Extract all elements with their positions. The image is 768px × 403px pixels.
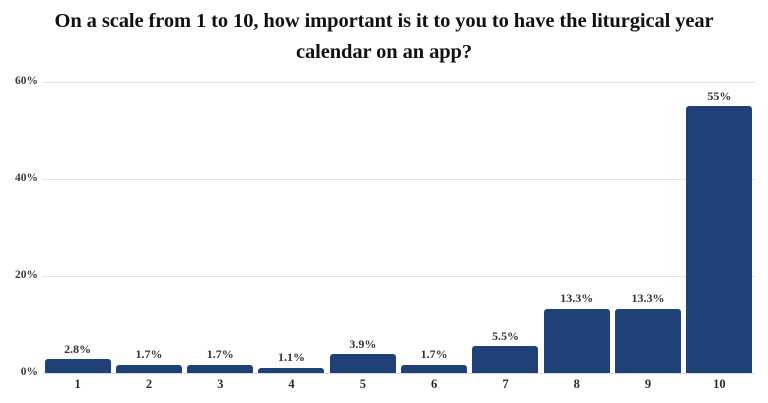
bar-8[interactable] (544, 309, 610, 374)
bar-value-1: 2.8% (42, 342, 113, 357)
bar-slot-2: 1.7% (113, 82, 184, 373)
y-axis-tick-60: 60% (2, 75, 38, 87)
bar-value-8: 13.3% (541, 291, 612, 306)
bar-value-4: 1.1% (256, 350, 327, 365)
bar-6[interactable] (401, 365, 467, 373)
bar-value-3: 1.7% (185, 347, 256, 362)
x-axis-tick-3: 3 (185, 377, 256, 392)
x-axis: 1 2 3 4 5 6 7 8 9 10 (42, 377, 755, 399)
y-axis-tick-20: 20% (2, 269, 38, 281)
bar-chart: On a scale from 1 to 10, how important i… (0, 0, 768, 403)
bar-slot-3: 1.7% (185, 82, 256, 373)
bar-slot-5: 3.9% (327, 82, 398, 373)
bar-value-10: 55% (684, 89, 755, 104)
x-axis-tick-10: 10 (684, 377, 755, 392)
bar-value-2: 1.7% (113, 347, 184, 362)
bar-9[interactable] (615, 309, 681, 374)
bar-slot-7: 5.5% (470, 82, 541, 373)
bar-slot-6: 1.7% (399, 82, 470, 373)
bar-slot-10: 55% (684, 82, 755, 373)
bar-value-7: 5.5% (470, 329, 541, 344)
x-axis-tick-8: 8 (541, 377, 612, 392)
chart-title-line-1: On a scale from 1 to 10, how important i… (54, 10, 713, 32)
x-axis-tick-4: 4 (256, 377, 327, 392)
x-axis-tick-9: 9 (612, 377, 683, 392)
x-axis-tick-5: 5 (327, 377, 398, 392)
x-axis-baseline (42, 373, 755, 374)
x-axis-tick-1: 1 (42, 377, 113, 392)
bar-slot-9: 13.3% (612, 82, 683, 373)
bar-2[interactable] (116, 365, 182, 373)
y-axis-tick-40: 40% (2, 172, 38, 184)
x-axis-tick-7: 7 (470, 377, 541, 392)
y-axis: 60% 40% 20% 0% (0, 82, 38, 373)
bar-1[interactable] (45, 359, 111, 373)
bar-slot-4: 1.1% (256, 82, 327, 373)
y-axis-tick-0: 0% (2, 366, 38, 378)
x-axis-tick-6: 6 (399, 377, 470, 392)
bar-3[interactable] (187, 365, 253, 373)
plot-area: 2.8% 1.7% 1.7% 1.1% 3.9% 1.7% 5.5% (42, 82, 755, 373)
x-axis-tick-2: 2 (113, 377, 184, 392)
bar-value-9: 13.3% (612, 291, 683, 306)
bar-value-5: 3.9% (327, 337, 398, 352)
bar-5[interactable] (330, 354, 396, 373)
bar-slot-1: 2.8% (42, 82, 113, 373)
bar-10[interactable] (686, 106, 752, 373)
bar-value-6: 1.7% (399, 347, 470, 362)
bar-slot-8: 13.3% (541, 82, 612, 373)
bar-7[interactable] (472, 346, 538, 373)
chart-title-line-2: calendar on an app? (296, 41, 472, 63)
chart-title: On a scale from 1 to 10, how important i… (12, 6, 756, 68)
